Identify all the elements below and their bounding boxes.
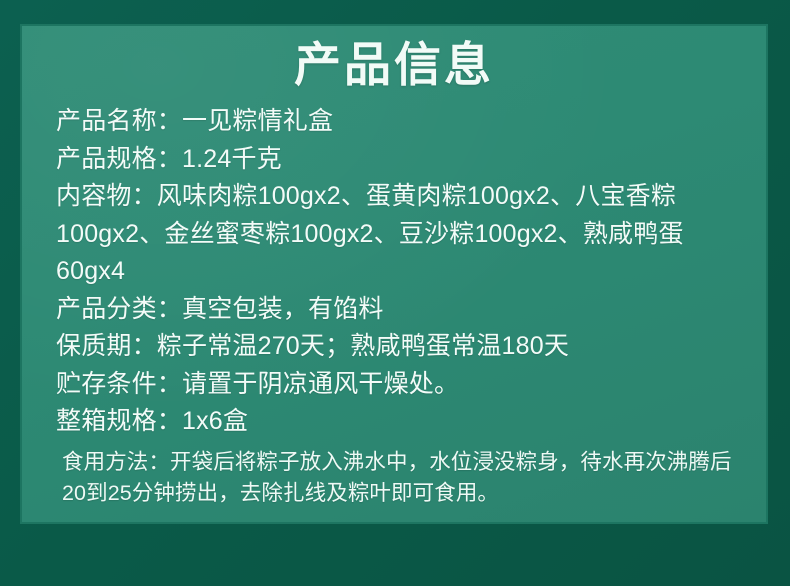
spec-row-carton-size: 整箱规格：1x6盒 <box>56 403 750 441</box>
spec-row-product-name: 产品名称：一见粽情礼盒 <box>56 103 750 141</box>
product-info-poster: 产品信息 产品名称：一见粽情礼盒 产品规格：1.24千克 内容物：风味肉粽100… <box>0 0 790 586</box>
spec-row-shelf-life: 保质期：粽子常温270天；熟咸鸭蛋常温180天 <box>56 328 750 366</box>
page-title: 产品信息 <box>22 38 766 94</box>
info-panel: 产品信息 产品名称：一见粽情礼盒 产品规格：1.24千克 内容物：风味肉粽100… <box>22 26 766 522</box>
spec-row-product-size: 产品规格：1.24千克 <box>56 141 750 179</box>
spec-row-contents: 内容物：风味肉粽100gx2、蛋黄肉粽100gx2、八宝香粽100gx2、金丝蜜… <box>56 178 750 291</box>
usage-instructions: 食用方法：开袋后将粽子放入沸水中，水位浸没粽身，待水再次沸腾后20到25分钟捞出… <box>62 447 740 509</box>
spec-row-storage: 贮存条件：请置于阴凉通风干燥处。 <box>56 366 750 404</box>
spec-list: 产品名称：一见粽情礼盒 产品规格：1.24千克 内容物：风味肉粽100gx2、蛋… <box>56 103 750 441</box>
spec-row-category: 产品分类：真空包装，有馅料 <box>56 291 750 329</box>
